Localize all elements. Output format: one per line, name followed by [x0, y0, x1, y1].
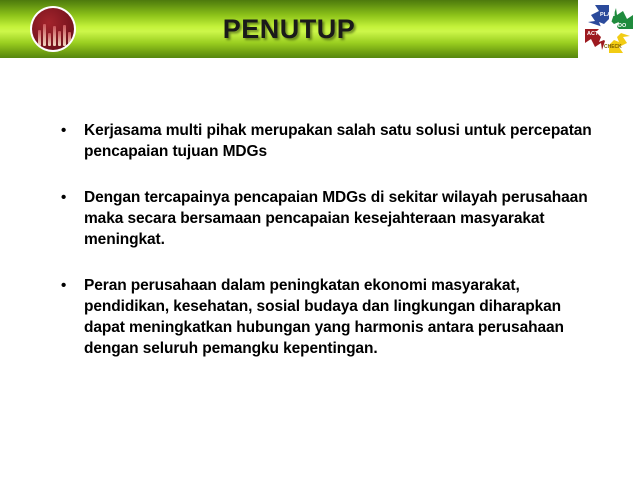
bullet-marker-icon: •	[61, 187, 66, 208]
pdca-cycle-logo: PLAN DO CHECK ACT	[582, 2, 636, 56]
pdca-plan-label: PLAN	[600, 12, 615, 18]
slide-content: • Kerjasama multi pihak merupakan salah …	[0, 58, 638, 479]
bullet-item: • Dengan tercapainya pencapaian MDGs di …	[55, 187, 600, 250]
company-logo-graphic	[32, 8, 74, 50]
pdca-do-label: DO	[618, 23, 627, 29]
page-title: PENUTUP	[0, 0, 578, 58]
pdca-act-label: ACT	[587, 31, 599, 37]
bullet-item: • Kerjasama multi pihak merupakan salah …	[55, 120, 600, 162]
bullet-item: • Peran perusahaan dalam peningkatan eko…	[55, 275, 600, 359]
bullet-list: • Kerjasama multi pihak merupakan salah …	[55, 120, 600, 359]
bullet-marker-icon: •	[61, 275, 66, 296]
pdca-cycle-icon: PLAN DO CHECK ACT	[582, 2, 636, 56]
bullet-text: Dengan tercapainya pencapaian MDGs di se…	[84, 187, 600, 250]
slide-header: PENUTUP	[0, 0, 638, 58]
slide: PENUTUP	[0, 0, 638, 479]
bullet-text: Kerjasama multi pihak merupakan salah sa…	[84, 120, 600, 162]
company-circular-logo	[30, 6, 76, 52]
bullet-marker-icon: •	[61, 120, 66, 141]
bullet-text: Peran perusahaan dalam peningkatan ekono…	[84, 275, 600, 359]
pdca-check-label: CHECK	[604, 44, 622, 50]
